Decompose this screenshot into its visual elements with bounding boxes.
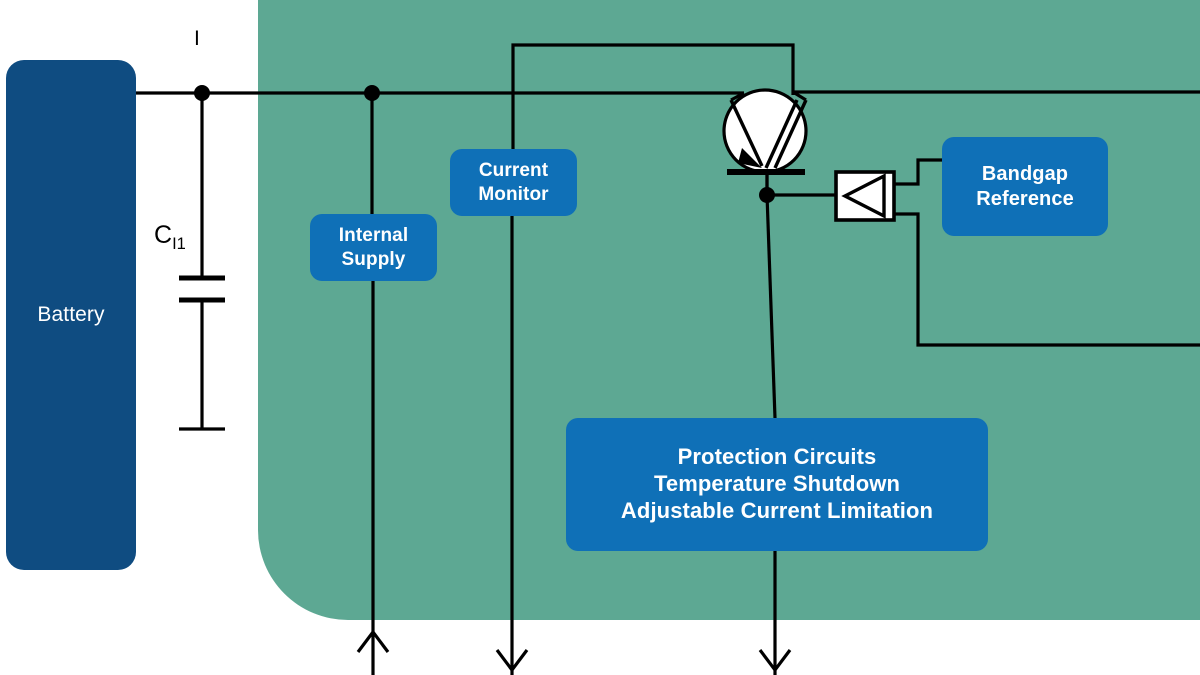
current-label-text: I bbox=[194, 27, 200, 50]
block-battery[interactable]: Battery bbox=[6, 60, 136, 570]
capacitor-label-subscript: I1 bbox=[172, 235, 186, 253]
current-label: I bbox=[194, 27, 200, 51]
block-battery-label: Battery bbox=[37, 302, 104, 328]
wire-amp-to-bandgap bbox=[894, 160, 942, 184]
junction-transistor-base bbox=[759, 187, 775, 203]
block-internal-supply-label: Internal Supply bbox=[339, 224, 408, 270]
capacitor-label-letter: C bbox=[154, 221, 172, 249]
junction-internal-supply-tap bbox=[364, 85, 380, 101]
capacitor-label: CI1 bbox=[154, 221, 186, 254]
block-current-monitor-label: Current Monitor bbox=[478, 159, 548, 205]
wiring-layer bbox=[0, 0, 1200, 675]
block-bandgap-reference[interactable]: Bandgap Reference bbox=[942, 137, 1108, 236]
wire-protection-in bbox=[767, 195, 775, 418]
block-current-monitor[interactable]: Current Monitor bbox=[450, 149, 577, 216]
block-bandgap-reference-label: Bandgap Reference bbox=[976, 162, 1074, 211]
block-protection-circuits-label: Protection Circuits Temperature Shutdown… bbox=[621, 444, 933, 524]
block-protection-circuits[interactable]: Protection Circuits Temperature Shutdown… bbox=[566, 418, 988, 551]
wire-collector-feedback bbox=[513, 45, 793, 95]
block-internal-supply[interactable]: Internal Supply bbox=[310, 214, 437, 281]
diagram-canvas: Battery Internal Supply Current Monitor … bbox=[0, 0, 1200, 675]
junction-battery-node bbox=[194, 85, 210, 101]
